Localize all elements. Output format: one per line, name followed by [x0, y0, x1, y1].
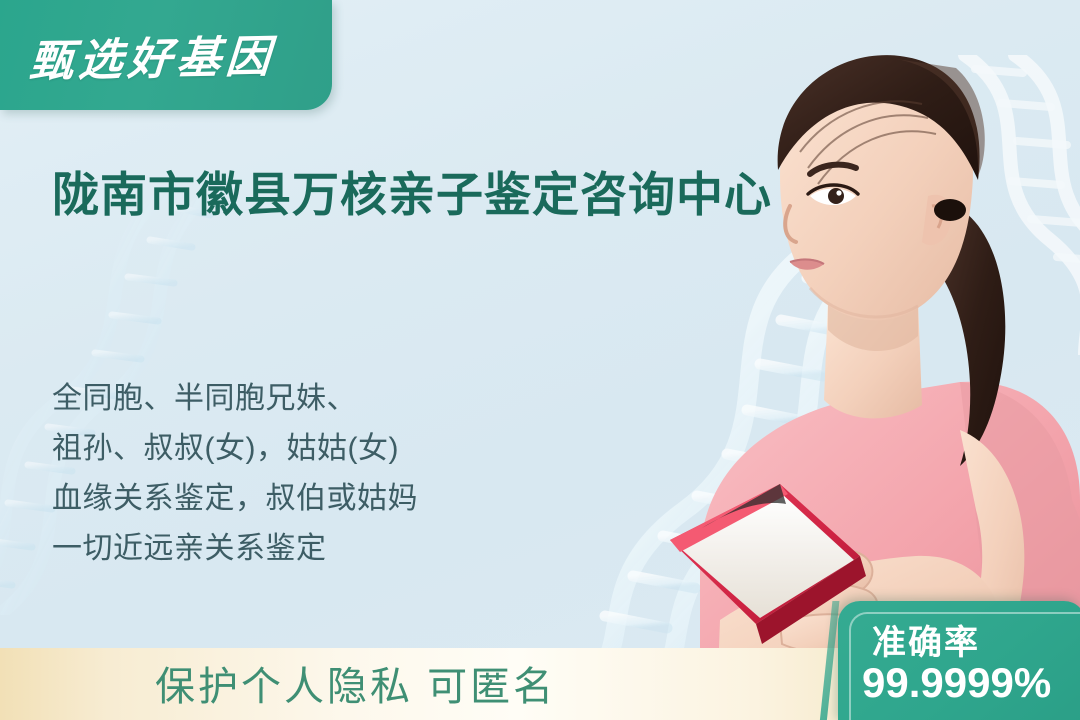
accuracy-badge: 准确率 99.9999%: [838, 601, 1080, 720]
service-line: 祖孙、叔叔(女)，姑姑(女): [52, 424, 418, 474]
accuracy-label: 准确率: [872, 615, 980, 664]
page-title: 陇南市徽县万核亲子鉴定咨询中心: [52, 156, 772, 225]
service-description-list: 全同胞、半同胞兄妹、 祖孙、叔叔(女)，姑姑(女) 血缘关系鉴定，叔伯或姑妈 一…: [52, 374, 418, 574]
service-line: 一切近远亲关系鉴定: [52, 524, 418, 574]
privacy-note: 保护个人隐私 可匿名: [155, 665, 556, 709]
accuracy-value: 99.9999%: [862, 659, 1051, 707]
service-line: 全同胞、半同胞兄妹、: [52, 374, 418, 424]
service-line: 血缘关系鉴定，叔伯或姑妈: [52, 474, 418, 524]
brand-banner: 甄选好基因: [0, 0, 332, 110]
brand-logo-text: 甄选好基因: [28, 20, 278, 89]
poster-container: 甄选好基因 陇南市徽县万核亲子鉴定咨询中心 全同胞、半同胞兄妹、 祖孙、叔叔(女…: [0, 0, 1080, 720]
